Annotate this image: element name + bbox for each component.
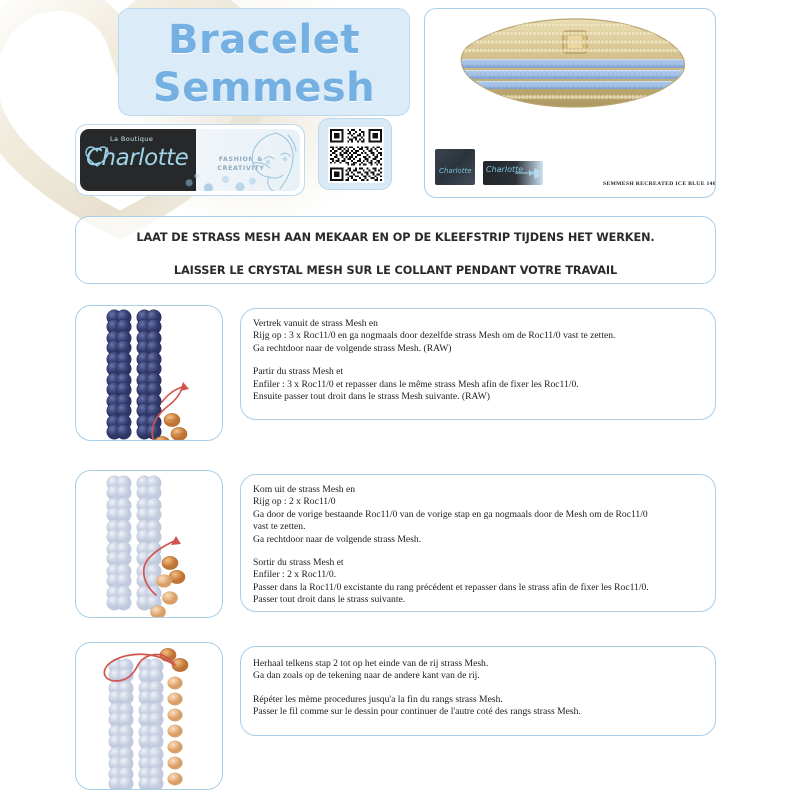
step-3-nl-line-1: Herhaal telkens stap 2 tot op het einde … [253,658,703,670]
step-1-spacer [253,355,703,366]
heart-logo-icon [84,143,110,169]
step-2-diagram [75,470,223,618]
step-1-nl-line-2: Rijg op : 3 x Roc11/0 en ga nogmaals doo… [253,330,703,342]
step-1-fr-line-1: Partir du strass Mesh et [253,366,703,378]
step-2-nl-line-5: Ga rechtdoor naar de volgende strass Mes… [253,534,703,546]
step-1-text: Vertrek vanuit de strass Mesh en Rijg op… [253,318,703,403]
step-2-nl-line-3: Ga door de vorige bestaande Roc11/0 van … [253,509,703,521]
step-2-spacer [253,546,703,557]
step-3-fr-line-2: Passer le fil comme sur le dessin pour c… [253,706,703,718]
document-page: Bracelet Semmesh La Boutique Charlotte F… [0,0,800,800]
step-1-fr-line-3: Ensuite passer tout droit dans le strass… [253,391,703,403]
step-2-fr-line-2: Enfiler : 2 x Roc11/0. [253,569,703,581]
step-3-spacer [253,683,703,694]
bracelet-photo-box: Charlotte Charlotte SEMMESH RECREATED IC… [424,8,716,198]
step-1-nl-line-1: Vertrek vanuit de strass Mesh en [253,318,703,330]
step-3-nl-line-2: Ga dan zoals op de tekening naar de ande… [253,670,703,682]
step-2-fr-line-4: Passer tout droit dans le strass suivant… [253,594,703,606]
step-2-nl-line-1: Kom uit de strass Mesh en [253,484,703,496]
step-1-bead-diagram-icon [76,306,222,440]
step-3-text: Herhaal telkens stap 2 tot op het einde … [253,658,703,719]
step-2-text: Kom uit de strass Mesh en Rijg op : 2 x … [253,484,703,607]
page-title-line-1: Bracelet [119,9,409,64]
qr-code-icon [328,127,384,183]
page-title-line-2: Semmesh [119,64,409,112]
photo-thumbnail-1-brand: Charlotte [439,167,472,175]
page-title-box: Bracelet Semmesh [118,8,410,116]
step-3-text-box: Herhaal telkens stap 2 tot op het einde … [240,646,716,736]
photo-caption: SEMMESH RECREATED ICE BLUE 1405 [603,181,716,187]
step-1-fr-line-2: Enfiler : 3 x Roc11/0 et repasser dans l… [253,379,703,391]
banner-line-dutch: LAAT DE STRASS MESH AAN MEKAAR EN OP DE … [76,231,715,244]
step-3-bead-diagram-icon [76,643,222,789]
step-1-nl-line-3: Ga rechtdoor naar de volgende strass Mes… [253,343,703,355]
step-2-bead-diagram-icon [76,471,222,617]
bracelet-photo-image [425,13,716,143]
face-line-art-icon [236,131,298,191]
step-1-text-box: Vertrek vanuit de strass Mesh en Rijg op… [240,308,716,420]
step-3-fr-line-1: Répéter les mème procedures jusqu'a la f… [253,694,703,706]
step-2-fr-line-1: Sortir du strass Mesh et [253,557,703,569]
step-2-text-box: Kom uit de strass Mesh en Rijg op : 2 x … [240,474,716,612]
arrow-to-crystal-icon [515,165,541,181]
photo-thumbnail-2: Charlotte [483,161,543,185]
qr-code-image[interactable] [328,127,384,183]
brand-logo-inner: La Boutique Charlotte FASHION & CREATIVI… [80,129,300,191]
qr-code-box[interactable] [318,118,392,190]
instruction-banner: LAAT DE STRASS MESH AAN MEKAAR EN OP DE … [75,216,716,284]
banner-line-french: LAISSER LE CRYSTAL MESH SUR LE COLLANT P… [76,264,715,277]
brand-tagline-small: La Boutique [110,135,153,143]
step-3-diagram [75,642,223,790]
brand-logo-box: La Boutique Charlotte FASHION & CREATIVI… [75,124,305,196]
step-2-fr-line-3: Passer dans la Roc11/0 excistante du ran… [253,582,703,594]
step-2-nl-line-4: vast te zetten. [253,521,703,533]
photo-thumbnail-1: Charlotte [435,149,475,185]
step-2-nl-line-2: Rijg op : 2 x Roc11/0 [253,496,703,508]
step-1-diagram [75,305,223,441]
